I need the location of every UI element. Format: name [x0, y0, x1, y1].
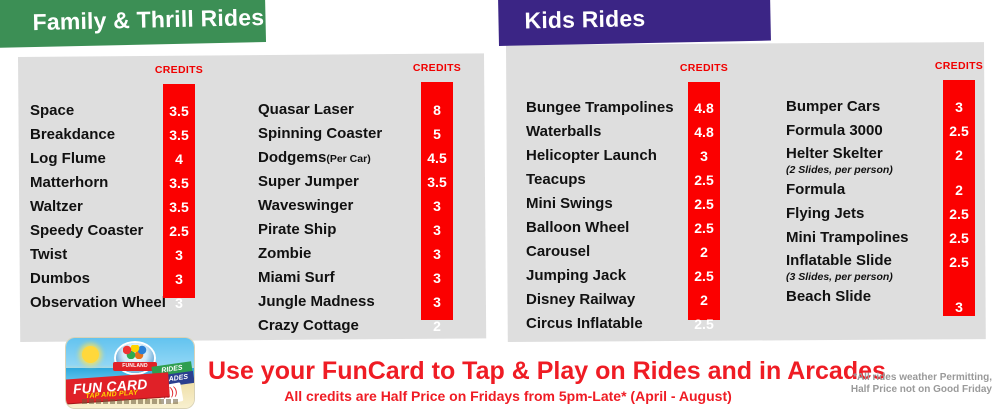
- ride-row: Waveswinger: [258, 194, 382, 218]
- credits-values-kids-col1: 4.8 4.8 3 2.5 2.5 2.5 2 2.5 2 2.5: [679, 96, 729, 336]
- credits-values-family-col1: 3.5 3.5 4 3.5 3.5 2.5 3 3 3: [154, 99, 204, 315]
- ride-row: Quasar Laser: [258, 98, 382, 122]
- ride-row: Balloon Wheel: [526, 216, 674, 240]
- credit-value: 2: [679, 240, 729, 264]
- card-smallprint: [82, 399, 178, 404]
- credit-value: 3.5: [154, 99, 204, 123]
- ride-row: Inflatable Slide (3 Slides, per person): [786, 250, 909, 285]
- ride-name: Mini Swings: [526, 195, 613, 212]
- credit-value: 3: [412, 242, 462, 266]
- credit-value: 2.5: [934, 119, 984, 143]
- ride-row: Helicopter Launch: [526, 144, 674, 168]
- credit-value: 2.5: [934, 250, 984, 285]
- credit-value: 2.5: [679, 312, 729, 336]
- ride-row: Disney Railway: [526, 288, 674, 312]
- credit-value: 3.5: [154, 171, 204, 195]
- ride-row: Space: [30, 99, 166, 123]
- ride-row: Carousel: [526, 240, 674, 264]
- credit-value: 2.5: [679, 264, 729, 288]
- ride-row: Flying Jets: [786, 202, 909, 226]
- ride-name: Bungee Trampolines: [526, 99, 674, 116]
- ride-name: Bumper Cars: [786, 98, 880, 115]
- credit-value: 2: [934, 178, 984, 202]
- credit-value: 3: [679, 144, 729, 168]
- credit-value: 3: [154, 291, 204, 315]
- ride-name: Crazy Cottage: [258, 317, 359, 334]
- ride-list-family-col1: Space Breakdance Log Flume Matterhorn Wa…: [30, 99, 166, 315]
- ride-row: Bumper Cars: [786, 95, 909, 119]
- credit-value: 2: [934, 143, 984, 178]
- funcard-image: FUNLAND RIDES ARCADES ✦ )))) FUN CARD TA…: [66, 338, 194, 408]
- ride-list-kids-col1: Bungee Trampolines Waterballs Helicopter…: [526, 96, 674, 336]
- ride-name: Super Jumper: [258, 173, 359, 190]
- ride-name: Waltzer: [30, 198, 83, 215]
- credit-value: 2.5: [154, 219, 204, 243]
- ride-name: Pirate Ship: [258, 221, 336, 238]
- credit-value: 3: [412, 266, 462, 290]
- ride-name: Helter Skelter: [786, 145, 883, 162]
- credit-value: 2.5: [934, 226, 984, 250]
- sun-icon: [82, 346, 99, 363]
- ride-name: Formula 3000: [786, 122, 883, 139]
- family-thrill-title-ribbon: Family & Thrill Rides: [0, 0, 266, 48]
- ride-row: Observation Wheel: [30, 291, 166, 315]
- family-thrill-title: Family & Thrill Rides: [32, 4, 264, 36]
- credit-value: 4.8: [679, 96, 729, 120]
- credits-values-kids-col2: 3 2.5 2 2 2.5 2.5 2.5 3: [934, 95, 984, 320]
- ride-name: Jumping Jack: [526, 267, 626, 284]
- ride-row: Dumbos: [30, 267, 166, 291]
- credit-value: 4.5: [412, 146, 462, 170]
- ride-name: Flying Jets: [786, 205, 864, 222]
- ride-row: Mini Trampolines: [786, 226, 909, 250]
- ride-name: Matterhorn: [30, 174, 108, 191]
- ride-row: Waterballs: [526, 120, 674, 144]
- ride-name: Log Flume: [30, 150, 106, 167]
- banner-subline: All credits are Half Price on Fridays fr…: [208, 388, 808, 404]
- ride-name: Teacups: [526, 171, 586, 188]
- ride-name: Miami Surf: [258, 269, 335, 286]
- ride-name: Dodgems: [258, 149, 326, 166]
- ride-row: Zombie: [258, 242, 382, 266]
- ride-note: (Per Car): [326, 153, 370, 165]
- credit-value: 2.5: [679, 192, 729, 216]
- ride-row: Bungee Trampolines: [526, 96, 674, 120]
- credit-value: 4: [154, 147, 204, 171]
- ride-row: Jumping Jack: [526, 264, 674, 288]
- ride-row: Miami Surf: [258, 266, 382, 290]
- ride-name: Inflatable Slide: [786, 252, 892, 269]
- credits-values-family-col2: 8 5 4.5 3.5 3 3 3 3 3 2: [412, 98, 462, 338]
- credit-value: 2: [679, 288, 729, 312]
- credits-header-family-col2: CREDITS: [412, 62, 462, 74]
- credit-value: 2.5: [934, 202, 984, 226]
- credit-value: 3: [154, 267, 204, 291]
- ride-row: Beach Slide: [786, 285, 909, 309]
- ride-name: Quasar Laser: [258, 101, 354, 118]
- ride-name: Helicopter Launch: [526, 147, 657, 164]
- ride-name: Breakdance: [30, 126, 115, 143]
- credit-value: 8: [412, 98, 462, 122]
- credit-value: 4.8: [679, 120, 729, 144]
- ride-row: Circus Inflatable: [526, 312, 674, 336]
- ride-row: Teacups: [526, 168, 674, 192]
- credit-value: 3: [412, 290, 462, 314]
- credit-value: 3: [412, 194, 462, 218]
- credit-value: 3: [934, 285, 984, 320]
- ride-list-family-col2: Quasar Laser Spinning Coaster Dodgems(Pe…: [258, 98, 382, 338]
- ride-list-kids-col2: Bumper Cars Formula 3000 Helter Skelter …: [786, 95, 909, 309]
- kids-rides-title-ribbon: Kids Rides: [498, 0, 771, 46]
- ride-row: Crazy Cottage: [258, 314, 382, 338]
- ride-name: Waveswinger: [258, 197, 353, 214]
- price-board: Family & Thrill Rides Space Breakdance L…: [0, 0, 1000, 413]
- credit-value: 3: [934, 95, 984, 119]
- credit-value: 3.5: [412, 170, 462, 194]
- ride-name: Mini Trampolines: [786, 229, 909, 246]
- credit-value: 3: [154, 243, 204, 267]
- ride-row: Speedy Coaster: [30, 219, 166, 243]
- ride-row: Breakdance: [30, 123, 166, 147]
- ride-name: Dumbos: [30, 270, 90, 287]
- ride-row: Spinning Coaster: [258, 122, 382, 146]
- ride-name: Formula: [786, 181, 845, 198]
- disclaimer-line-1: *All rides weather Permitting,: [822, 372, 992, 384]
- credits-header-kids-col2: CREDITS: [934, 60, 984, 72]
- credits-header-kids-col1: CREDITS: [679, 62, 729, 74]
- banner-headline: Use your FunCard to Tap & Play on Rides …: [208, 357, 808, 386]
- credit-value: 5: [412, 122, 462, 146]
- ride-name: Beach Slide: [786, 288, 871, 305]
- ride-name: Observation Wheel: [30, 294, 166, 311]
- credit-value: 2.5: [679, 168, 729, 192]
- ride-row: Waltzer: [30, 195, 166, 219]
- ride-row: Twist: [30, 243, 166, 267]
- ride-name: Carousel: [526, 243, 590, 260]
- ride-row: Helter Skelter (2 Slides, per person): [786, 143, 909, 178]
- ride-name: Space: [30, 102, 74, 119]
- ride-row: Formula 3000: [786, 119, 909, 143]
- balloons-icon: [123, 345, 147, 359]
- ride-row: Super Jumper: [258, 170, 382, 194]
- credit-value: 3: [412, 218, 462, 242]
- ride-name: Speedy Coaster: [30, 222, 143, 239]
- ride-row: Jungle Madness: [258, 290, 382, 314]
- ride-row: Formula: [786, 178, 909, 202]
- kids-rides-title: Kids Rides: [524, 5, 645, 34]
- ride-name: Circus Inflatable: [526, 315, 643, 332]
- ride-subnote: (2 Slides, per person): [786, 165, 909, 176]
- ride-name: Waterballs: [526, 123, 601, 140]
- ride-name: Spinning Coaster: [258, 125, 382, 142]
- credit-value: 2: [412, 314, 462, 338]
- ride-name: Jungle Madness: [258, 293, 375, 310]
- ride-row: Mini Swings: [526, 192, 674, 216]
- credit-value: 2.5: [679, 216, 729, 240]
- ride-row: Matterhorn: [30, 171, 166, 195]
- ride-name: Balloon Wheel: [526, 219, 629, 236]
- credit-value: 3.5: [154, 195, 204, 219]
- ride-name: Disney Railway: [526, 291, 635, 308]
- ride-name: Twist: [30, 246, 67, 263]
- credit-value: 3.5: [154, 123, 204, 147]
- ride-row: Pirate Ship: [258, 218, 382, 242]
- ride-row: Log Flume: [30, 147, 166, 171]
- disclaimer-line-2: Half Price not on Good Friday: [822, 384, 992, 396]
- ride-subnote: (3 Slides, per person): [786, 272, 909, 283]
- ride-name: Zombie: [258, 245, 311, 262]
- disclaimer: *All rides weather Permitting, Half Pric…: [822, 372, 992, 396]
- ride-row: Dodgems(Per Car): [258, 146, 382, 170]
- credits-header-family-col1: CREDITS: [154, 64, 204, 76]
